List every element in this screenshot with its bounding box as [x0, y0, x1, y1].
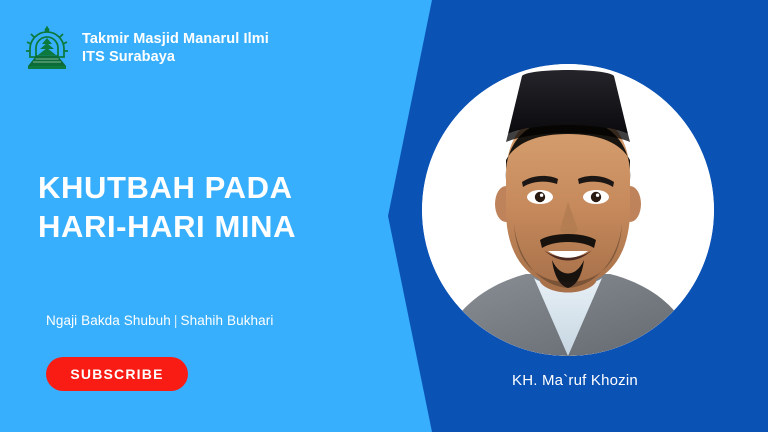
brand-line-1: Takmir Masjid Manarul Ilmi [82, 31, 269, 49]
brand-text: Takmir Masjid Manarul Ilmi ITS Surabaya [82, 31, 269, 66]
page-title: KHUTBAH PADA HARI-HARI MINA [38, 168, 388, 246]
headline-line-1: KHUTBAH PADA [38, 168, 388, 207]
headline-line-2: HARI-HARI MINA [38, 207, 388, 246]
speaker-photo [422, 64, 714, 356]
subtitle-right: Shahih Bukhari [181, 313, 274, 328]
brand-line-2: ITS Surabaya [82, 49, 269, 67]
speaker-portrait-circle [422, 64, 714, 356]
video-thumbnail-canvas: KH. Ma`ruf Khozin [0, 0, 768, 432]
speaker-name: KH. Ma`ruf Khozin [440, 372, 710, 389]
subtitle-left: Ngaji Bakda Shubuh [46, 313, 171, 328]
mosque-minaret-logo-icon [22, 24, 72, 74]
subtitle-separator: | [171, 313, 181, 328]
subtitle: Ngaji Bakda Shubuh|Shahih Bukhari [46, 313, 273, 328]
subscribe-button[interactable]: SUBSCRIBE [46, 357, 188, 391]
brand-header: Takmir Masjid Manarul Ilmi ITS Surabaya [22, 24, 269, 74]
